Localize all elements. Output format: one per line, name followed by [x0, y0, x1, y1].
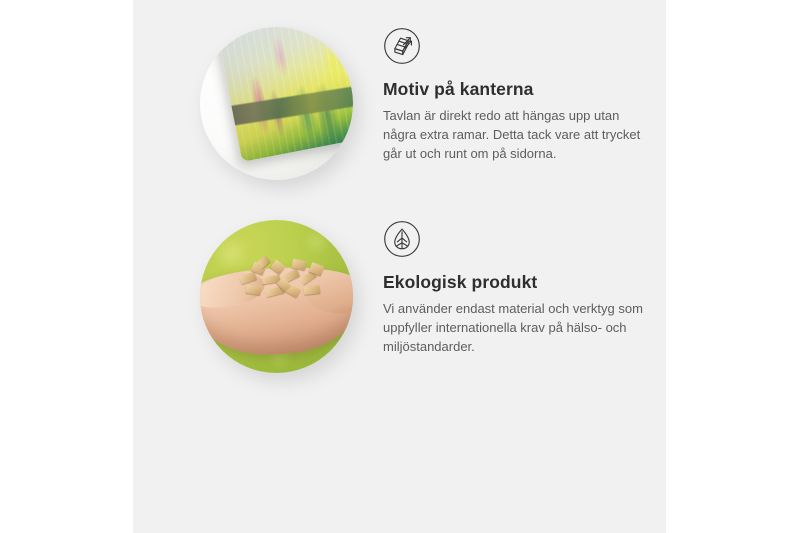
wood-chips-photo-wrap [200, 220, 353, 373]
wood-chips-pile [238, 258, 334, 302]
feature-motiv-pa-kanterna: Motiv på kanterna Tavlan är direkt redo … [133, 27, 666, 240]
canvas-corner-photo [200, 27, 353, 180]
feature-copy-motiv: Motiv på kanterna Tavlan är direkt redo … [383, 27, 661, 163]
feature-description: Tavlan är direkt redo att hängas upp uta… [383, 106, 651, 163]
product-feature-banner: Motiv på kanterna Tavlan är direkt redo … [0, 0, 800, 533]
feature-title: Motiv på kanterna [383, 79, 661, 100]
feature-title: Ekologisk produkt [383, 272, 661, 293]
canvas-wrapped-edge-icon [383, 27, 421, 65]
feature-copy-ekologisk: Ekologisk produkt Vi använder endast mat… [383, 220, 661, 356]
leaf-icon [383, 220, 421, 258]
content-panel: Motiv på kanterna Tavlan är direkt redo … [133, 0, 666, 533]
feature-description: Vi använder endast material och verktyg … [383, 299, 651, 356]
feature-ekologisk-produkt: Ekologisk produkt Vi använder endast mat… [133, 220, 666, 433]
wood-chips-in-hands-photo [200, 220, 353, 373]
canvas-corner-photo-wrap [200, 27, 353, 180]
